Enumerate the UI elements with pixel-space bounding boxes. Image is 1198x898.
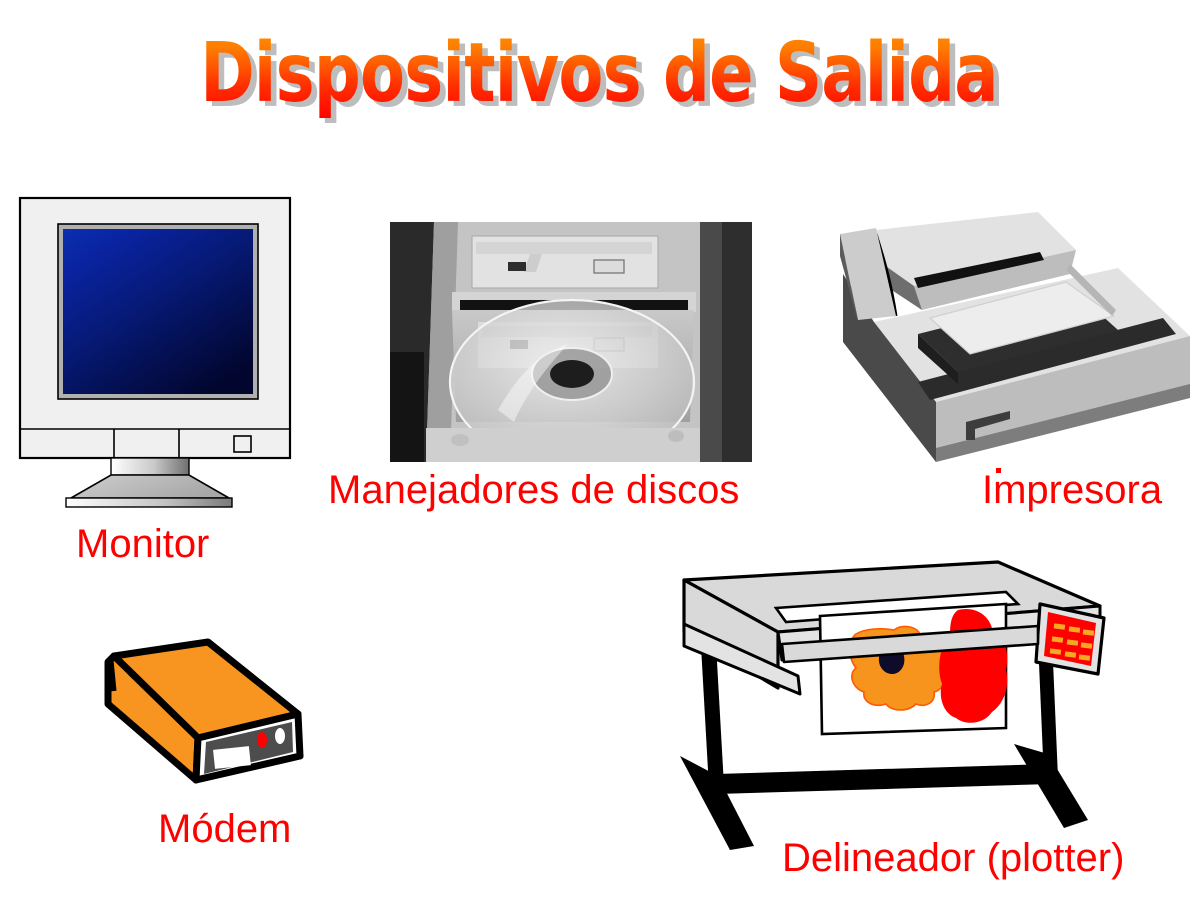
modem-figure xyxy=(78,628,328,806)
tower-base-front xyxy=(426,428,700,462)
upper-drive-slot xyxy=(476,242,652,254)
modem-led-power xyxy=(257,732,267,748)
caption-monitor: Monitor xyxy=(76,522,209,566)
printer-figure xyxy=(818,212,1190,474)
caption-modem: Módem xyxy=(158,807,291,851)
modem-edge-seam xyxy=(111,660,114,691)
monitor-stand-base xyxy=(71,475,229,498)
monitor-base-plate xyxy=(66,498,232,507)
caption-plotter: Delineador (plotter) xyxy=(782,836,1124,880)
disk-drives-figure xyxy=(390,222,752,462)
plotter-leg-crossbar xyxy=(716,764,1051,794)
modem-led-status xyxy=(275,728,285,744)
photo-right-dark-patch xyxy=(722,222,752,462)
monitor-figure xyxy=(18,196,310,508)
plotter-figure xyxy=(658,548,1108,856)
monitor-power-button xyxy=(234,436,251,452)
tower-screw-left xyxy=(451,434,469,446)
slide-canvas: Dispositivos de Salida Dispositivos de S… xyxy=(0,0,1198,898)
upper-drive-indicator xyxy=(508,262,526,271)
caption-printer: Impresora xyxy=(982,468,1162,512)
cd-disc-hub xyxy=(550,360,594,388)
photo-left-dark-patch xyxy=(390,352,424,462)
caption-disk-drives: Manejadores de discos xyxy=(328,468,739,512)
monitor-stand-neck xyxy=(111,458,189,475)
plotter-leg-left-vertical xyxy=(701,644,724,788)
page-title: Dispositivos de Salida xyxy=(120,28,1078,120)
upper-drive-button xyxy=(594,260,624,273)
modem-display xyxy=(213,746,251,769)
monitor-screen xyxy=(63,229,253,394)
tower-screw-right xyxy=(668,430,684,442)
